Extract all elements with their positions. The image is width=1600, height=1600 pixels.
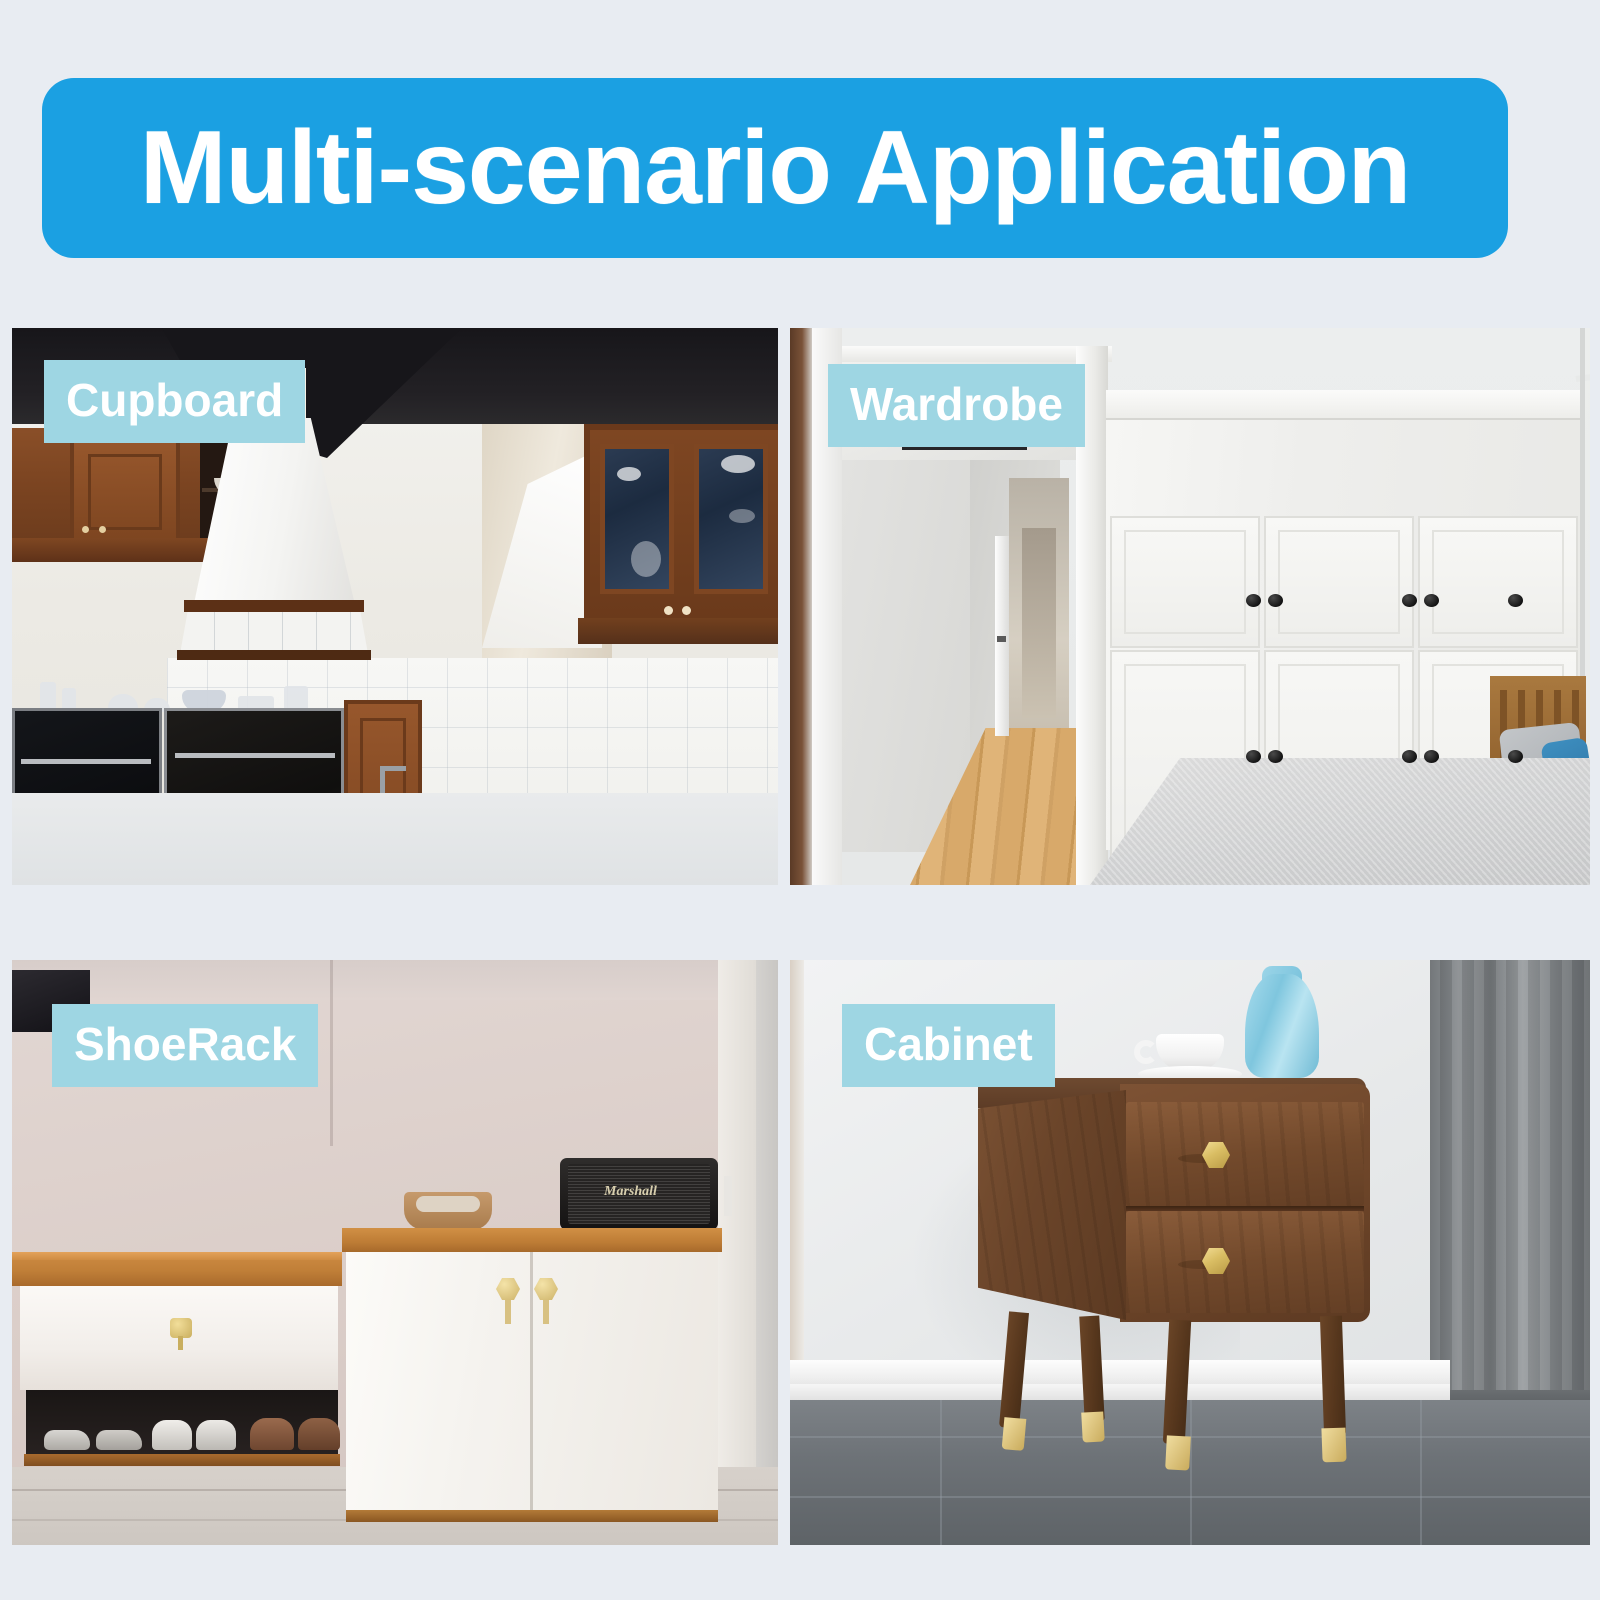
wardrobe-knob <box>1424 594 1439 607</box>
wardrobe-knob <box>1268 750 1283 763</box>
white-object-behind-speaker <box>724 1176 732 1216</box>
left-edge-wall <box>790 328 812 885</box>
wardrobe-knob <box>1508 750 1523 763</box>
label-cupboard: Cupboard <box>44 360 305 443</box>
wardrobe-upper-door <box>1418 516 1578 648</box>
glass-cabinet-knob <box>664 606 673 615</box>
panel-shoerack[interactable]: Marshall <box>12 960 778 1545</box>
curtain-folds <box>1430 960 1590 1412</box>
brass-leg-cap <box>1321 1428 1346 1463</box>
cup-handle <box>1134 1040 1158 1064</box>
wardrobe-knob <box>1246 594 1261 607</box>
brass-leg-cap <box>1165 1435 1191 1470</box>
door-frame-top <box>842 346 1112 362</box>
bench-top-highlight <box>12 1252 342 1260</box>
nightstand-leg <box>1320 1316 1346 1437</box>
wardrobe-knob <box>1424 750 1439 763</box>
label-cabinet: Cabinet <box>842 1004 1055 1087</box>
hood-band-upper <box>184 600 364 612</box>
nightstand-upper-drawer <box>1126 1102 1364 1206</box>
brass-leg-cap <box>1081 1411 1105 1442</box>
door-handle-icon <box>997 636 1006 642</box>
scenario-grid: Cupboard <box>0 0 1600 1600</box>
wardrobe-knob <box>1268 594 1283 607</box>
glass-reflection <box>721 455 755 473</box>
brass-leg-cap <box>1002 1417 1027 1451</box>
hood-band-lower <box>177 650 371 660</box>
counter-jars <box>32 668 322 712</box>
wall-right-edge <box>756 960 778 1545</box>
glass-pane-right <box>694 444 768 594</box>
baseboard-lower <box>790 1384 1450 1400</box>
bench-drawer-knob <box>170 1318 192 1338</box>
tile-floor <box>790 1400 1590 1545</box>
glass-cabinet-knob <box>682 606 691 615</box>
panel-cabinet[interactable]: Cabinet <box>790 960 1590 1545</box>
label-shoerack: ShoeRack <box>52 1004 318 1087</box>
cabinet-base-trim <box>346 1510 718 1522</box>
speaker-logo: Marshall <box>604 1184 674 1198</box>
glass-reflection <box>729 509 755 523</box>
cabinet-wood-top <box>342 1228 722 1252</box>
hood-tile-band <box>180 612 368 654</box>
label-wardrobe: Wardrobe <box>828 364 1085 447</box>
panel-cupboard[interactable]: Cupboard <box>12 328 778 885</box>
cabinet-knobs <box>82 526 114 533</box>
bench-base-trim <box>24 1454 340 1466</box>
blue-glass-vase <box>1245 974 1319 1078</box>
hallway-depth-far <box>1022 528 1056 718</box>
glass-upper-cabinet <box>584 424 778 624</box>
basket-contents <box>416 1196 480 1212</box>
wardrobe-upper-door <box>1110 516 1260 648</box>
wall-upper-band <box>12 960 778 1000</box>
glass-cabinet-base <box>578 618 778 644</box>
panel-wardrobe[interactable]: Wardrobe <box>790 328 1590 885</box>
glass-reflection <box>631 541 661 577</box>
wardrobe-knob <box>1246 750 1261 763</box>
glass-pane-left <box>600 444 674 594</box>
shoe-storage-recess <box>26 1390 338 1454</box>
wall-seam <box>330 960 333 1146</box>
nightstand-lower-drawer <box>1126 1211 1364 1313</box>
knob-stem <box>505 1298 511 1324</box>
wardrobe-knob <box>1402 750 1417 763</box>
nightstand-side-grain <box>978 1090 1126 1320</box>
kitchen-floor <box>12 793 778 885</box>
cabinet-door-split <box>530 1252 533 1510</box>
wardrobe-knob <box>1508 594 1523 607</box>
wardrobe-knob <box>1402 594 1417 607</box>
knob-stem <box>543 1298 549 1324</box>
wardrobe-crown-molding <box>1106 390 1584 420</box>
wardrobe-upper-door <box>1264 516 1414 648</box>
glass-reflection <box>617 467 641 481</box>
